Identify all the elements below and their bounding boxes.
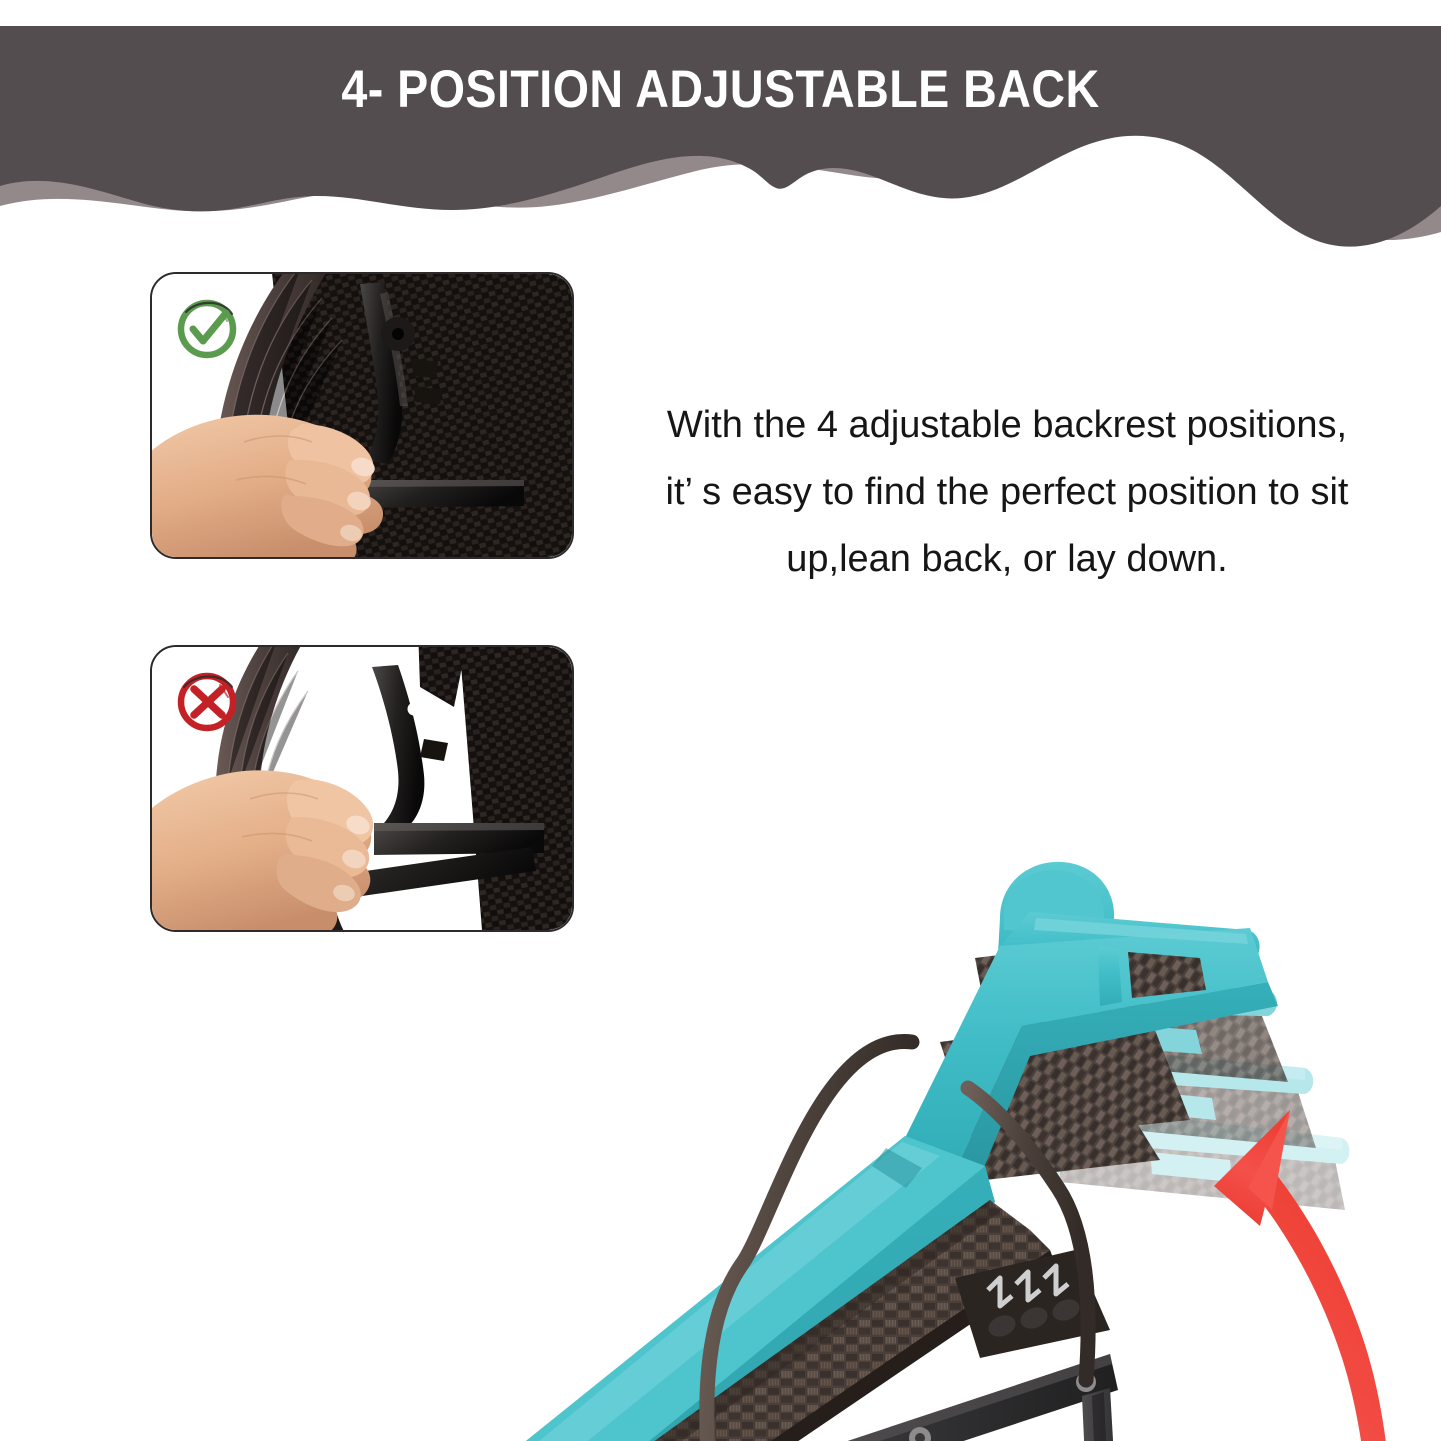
description-line-1: With the 4 adjustable backrest positions…: [612, 392, 1402, 459]
cross-circle-icon: [170, 663, 244, 737]
header-banner: 4- POSITION ADJUSTABLE BACK: [0, 0, 1441, 262]
description-line-2: it’ s easy to find the perfect position …: [612, 459, 1402, 526]
page-title: 4- POSITION ADJUSTABLE BACK: [86, 60, 1354, 120]
description-text: With the 4 adjustable backrest positions…: [612, 392, 1402, 593]
product-illustration: [0, 690, 1441, 1441]
correct-usage-panel: [150, 272, 574, 559]
check-circle-icon: [170, 290, 244, 364]
header-wave-graphic: [0, 0, 1441, 262]
description-line-3: up,lean back, or lay down.: [612, 526, 1402, 593]
